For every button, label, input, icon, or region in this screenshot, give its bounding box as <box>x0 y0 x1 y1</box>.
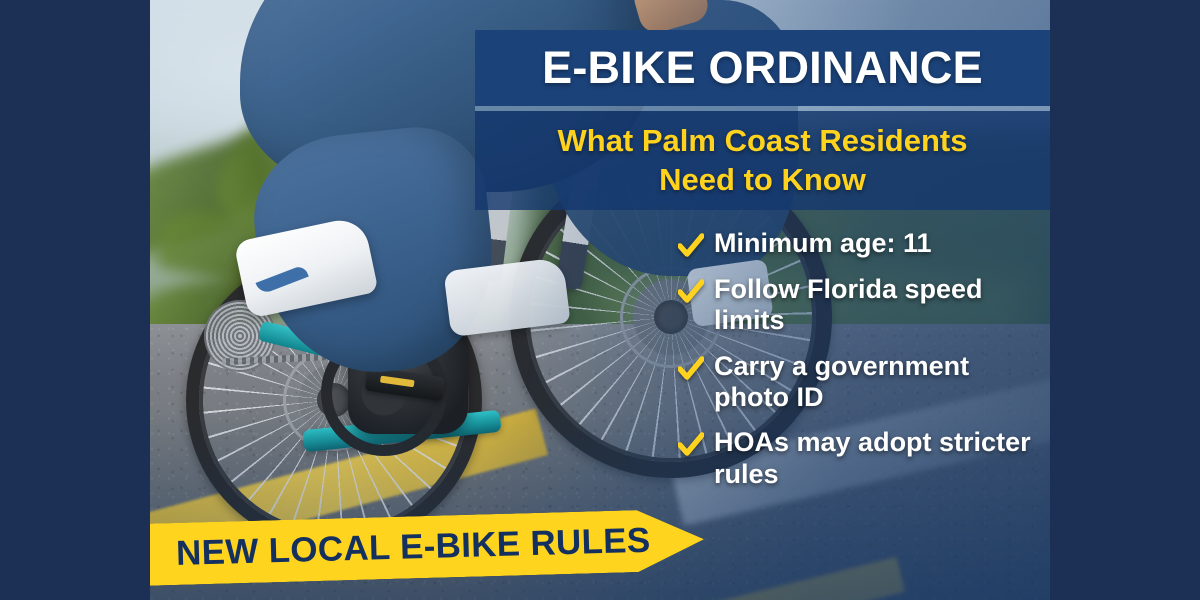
rider-far-shoe <box>443 257 570 337</box>
ribbon-label: NEW LOCAL E-BIKE RULES <box>176 521 652 574</box>
list-item-label: HOAs may adopt stricter rules <box>714 427 1050 490</box>
check-icon <box>678 232 704 260</box>
right-border <box>1050 0 1200 600</box>
list-item: Carry a government photo ID <box>678 351 1050 414</box>
check-icon <box>678 431 704 459</box>
left-border <box>0 0 150 600</box>
page-title: E-BIKE ORDINANCE <box>542 42 983 94</box>
title-band: E-BIKE ORDINANCE <box>475 30 1050 106</box>
rules-list: Minimum age: 11 Follow Florida speed lim… <box>678 228 1050 504</box>
check-icon <box>678 278 704 306</box>
list-item: Follow Florida speed limits <box>678 274 1050 337</box>
subtitle-band: What Palm Coast Residents Need to Know <box>475 111 1050 210</box>
check-icon <box>678 355 704 383</box>
title-divider <box>475 106 1050 111</box>
list-item: HOAs may adopt stricter rules <box>678 427 1050 490</box>
ebike-ordinance-graphic: E-BIKE ORDINANCE What Palm Coast Residen… <box>0 0 1200 600</box>
sneaker-logo <box>256 264 309 295</box>
list-item-label: Follow Florida speed limits <box>714 274 1050 337</box>
list-item: Minimum age: 11 <box>678 228 1050 260</box>
list-item-label: Minimum age: 11 <box>714 228 932 259</box>
list-item-label: Carry a government photo ID <box>714 351 1050 414</box>
subtitle-line-1: What Palm Coast Residents <box>558 123 968 160</box>
subtitle-line-2: Need to Know <box>659 162 866 199</box>
denim-highlight <box>311 0 426 9</box>
